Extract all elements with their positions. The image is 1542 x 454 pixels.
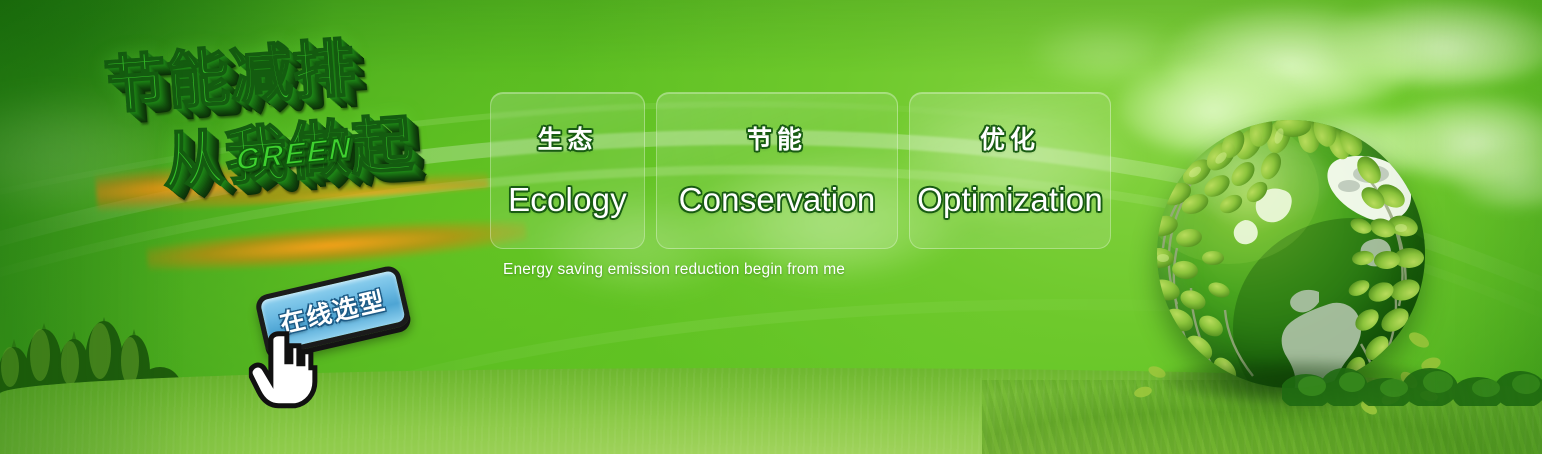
feature-card-list: 生态 Ecology 节能 Conservation 优化 Optimizati… [490, 92, 1111, 249]
feature-card-ecology[interactable]: 生态 Ecology [490, 92, 645, 249]
green-energy-banner: 节能减排 从我做起 GREEN 生态 Ecology 节能 Conservati… [0, 0, 1542, 454]
card-title-en: Ecology [508, 183, 627, 216]
card-title-en: Conservation [679, 183, 876, 216]
card-title-cn: 优化 [980, 128, 1040, 153]
tagline-text: Energy saving emission reduction begin f… [503, 261, 845, 279]
pointing-hand-cursor-icon [249, 328, 323, 412]
feature-card-conservation[interactable]: 节能 Conservation [656, 92, 898, 249]
shrub-cluster-icon [1282, 348, 1542, 406]
feature-card-optimization[interactable]: 优化 Optimization [909, 92, 1111, 249]
card-title-en: Optimization [917, 183, 1103, 216]
card-title-cn: 节能 [747, 128, 807, 153]
sky-corner-shade [0, 0, 430, 270]
card-title-cn: 生态 [537, 128, 597, 153]
